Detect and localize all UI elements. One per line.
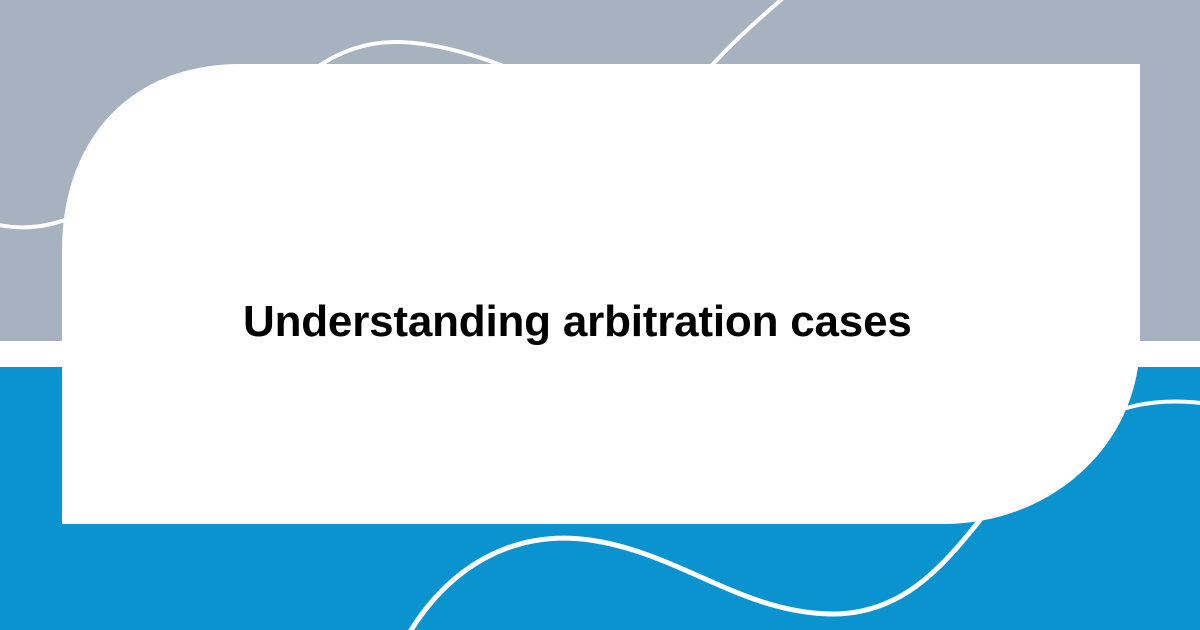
banner-card: Understanding arbitration cases <box>0 0 1200 630</box>
background-graphic <box>0 0 1200 630</box>
content-card-shape <box>62 64 1140 524</box>
